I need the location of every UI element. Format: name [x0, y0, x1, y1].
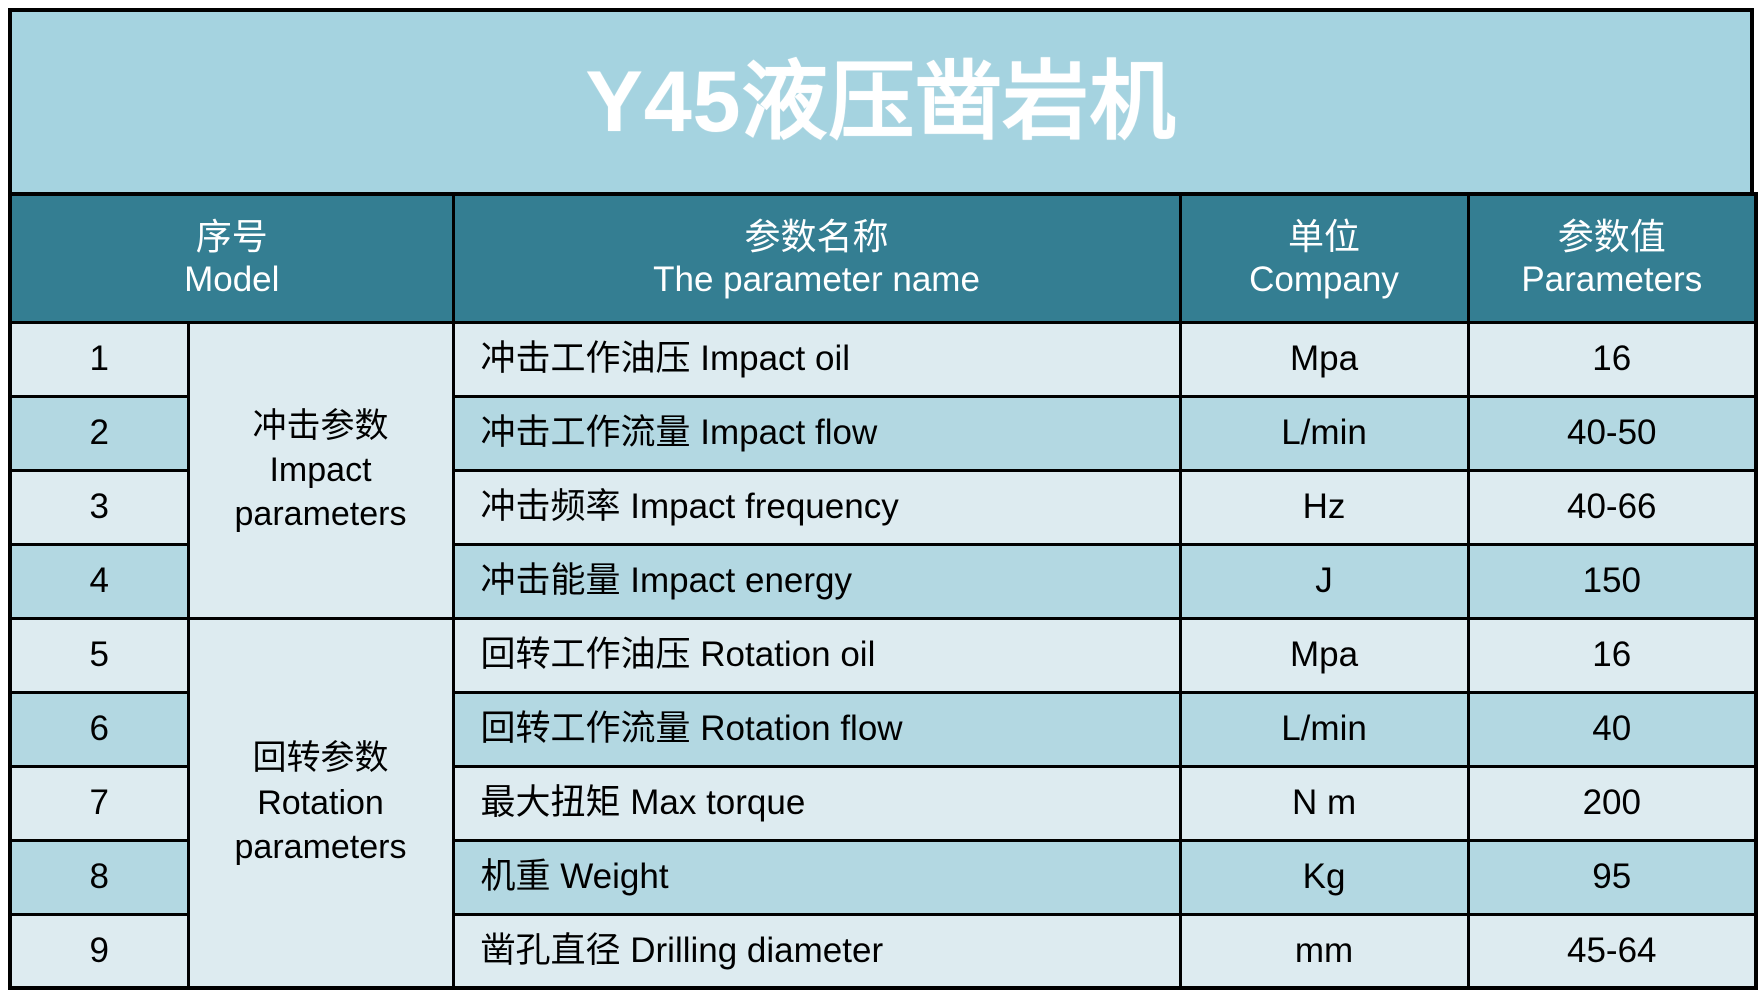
cell-value: 95 [1468, 840, 1756, 914]
cell-value: 200 [1468, 766, 1756, 840]
cell-parameter-name: 凿孔直径 Drilling diameter [453, 914, 1180, 988]
header-cell-parameter-name: 参数名称 The parameter name [453, 194, 1180, 322]
cell-value: 40-66 [1468, 470, 1756, 544]
cell-parameter-name: 冲击工作流量 Impact flow [453, 396, 1180, 470]
header-cell-value: 参数值 Parameters [1468, 194, 1756, 322]
cell-group-rotation: 回转参数 Rotation parameters [188, 618, 453, 988]
group-rotation-cn: 回转参数 [196, 736, 446, 780]
header-model-en: Model [18, 259, 446, 300]
cell-unit: J [1180, 544, 1468, 618]
cell-parameter-name: 最大扭矩 Max torque [453, 766, 1180, 840]
cell-model: 9 [10, 914, 188, 988]
group-impact-en2: parameters [196, 492, 446, 536]
header-unit-en: Company [1188, 259, 1461, 300]
title-banner: Y45液压凿岩机 [8, 8, 1754, 192]
cell-value: 40-50 [1468, 396, 1756, 470]
group-rotation-en1: Rotation [196, 781, 446, 825]
header-model-cn: 序号 [18, 216, 446, 258]
cell-parameter-name: 回转工作流量 Rotation flow [453, 692, 1180, 766]
cell-value: 45-64 [1468, 914, 1756, 988]
group-impact-cn: 冲击参数 [196, 404, 446, 448]
cell-unit: L/min [1180, 396, 1468, 470]
spec-sheet-page: Y45液压凿岩机 序号 Model 参数名称 The parameter nam… [0, 0, 1762, 998]
cell-value: 150 [1468, 544, 1756, 618]
cell-value: 16 [1468, 322, 1756, 396]
cell-model: 1 [10, 322, 188, 396]
specification-table: 序号 Model 参数名称 The parameter name 单位 Comp… [8, 192, 1758, 990]
cell-parameter-name: 回转工作油压 Rotation oil [453, 618, 1180, 692]
header-name-en: The parameter name [461, 259, 1173, 300]
cell-unit: L/min [1180, 692, 1468, 766]
group-rotation-en2: parameters [196, 825, 446, 869]
cell-value: 16 [1468, 618, 1756, 692]
cell-model: 8 [10, 840, 188, 914]
cell-parameter-name: 冲击能量 Impact energy [453, 544, 1180, 618]
header-name-cn: 参数名称 [461, 216, 1173, 258]
cell-unit: Hz [1180, 470, 1468, 544]
cell-model: 3 [10, 470, 188, 544]
cell-unit: Mpa [1180, 618, 1468, 692]
cell-unit: Kg [1180, 840, 1468, 914]
header-cell-model: 序号 Model [10, 194, 453, 322]
cell-unit: mm [1180, 914, 1468, 988]
cell-model: 6 [10, 692, 188, 766]
cell-group-impact: 冲击参数 Impact parameters [188, 322, 453, 618]
header-value-cn: 参数值 [1476, 216, 1749, 258]
cell-model: 7 [10, 766, 188, 840]
cell-unit: Mpa [1180, 322, 1468, 396]
cell-unit: N m [1180, 766, 1468, 840]
cell-model: 2 [10, 396, 188, 470]
header-row: 序号 Model 参数名称 The parameter name 单位 Comp… [10, 194, 1756, 322]
header-unit-cn: 单位 [1188, 216, 1461, 258]
cell-model: 4 [10, 544, 188, 618]
page-title: Y45液压凿岩机 [585, 59, 1176, 145]
table-row: 1 冲击参数 Impact parameters 冲击工作油压 Impact o… [10, 322, 1756, 396]
header-cell-unit: 单位 Company [1180, 194, 1468, 322]
cell-parameter-name: 机重 Weight [453, 840, 1180, 914]
group-impact-en1: Impact [196, 448, 446, 492]
cell-parameter-name: 冲击工作油压 Impact oil [453, 322, 1180, 396]
table-header: 序号 Model 参数名称 The parameter name 单位 Comp… [10, 194, 1756, 322]
cell-parameter-name: 冲击频率 Impact frequency [453, 470, 1180, 544]
table-body: 1 冲击参数 Impact parameters 冲击工作油压 Impact o… [10, 322, 1756, 988]
cell-value: 40 [1468, 692, 1756, 766]
header-value-en: Parameters [1476, 259, 1749, 300]
cell-model: 5 [10, 618, 188, 692]
table-row: 5 回转参数 Rotation parameters 回转工作油压 Rotati… [10, 618, 1756, 692]
